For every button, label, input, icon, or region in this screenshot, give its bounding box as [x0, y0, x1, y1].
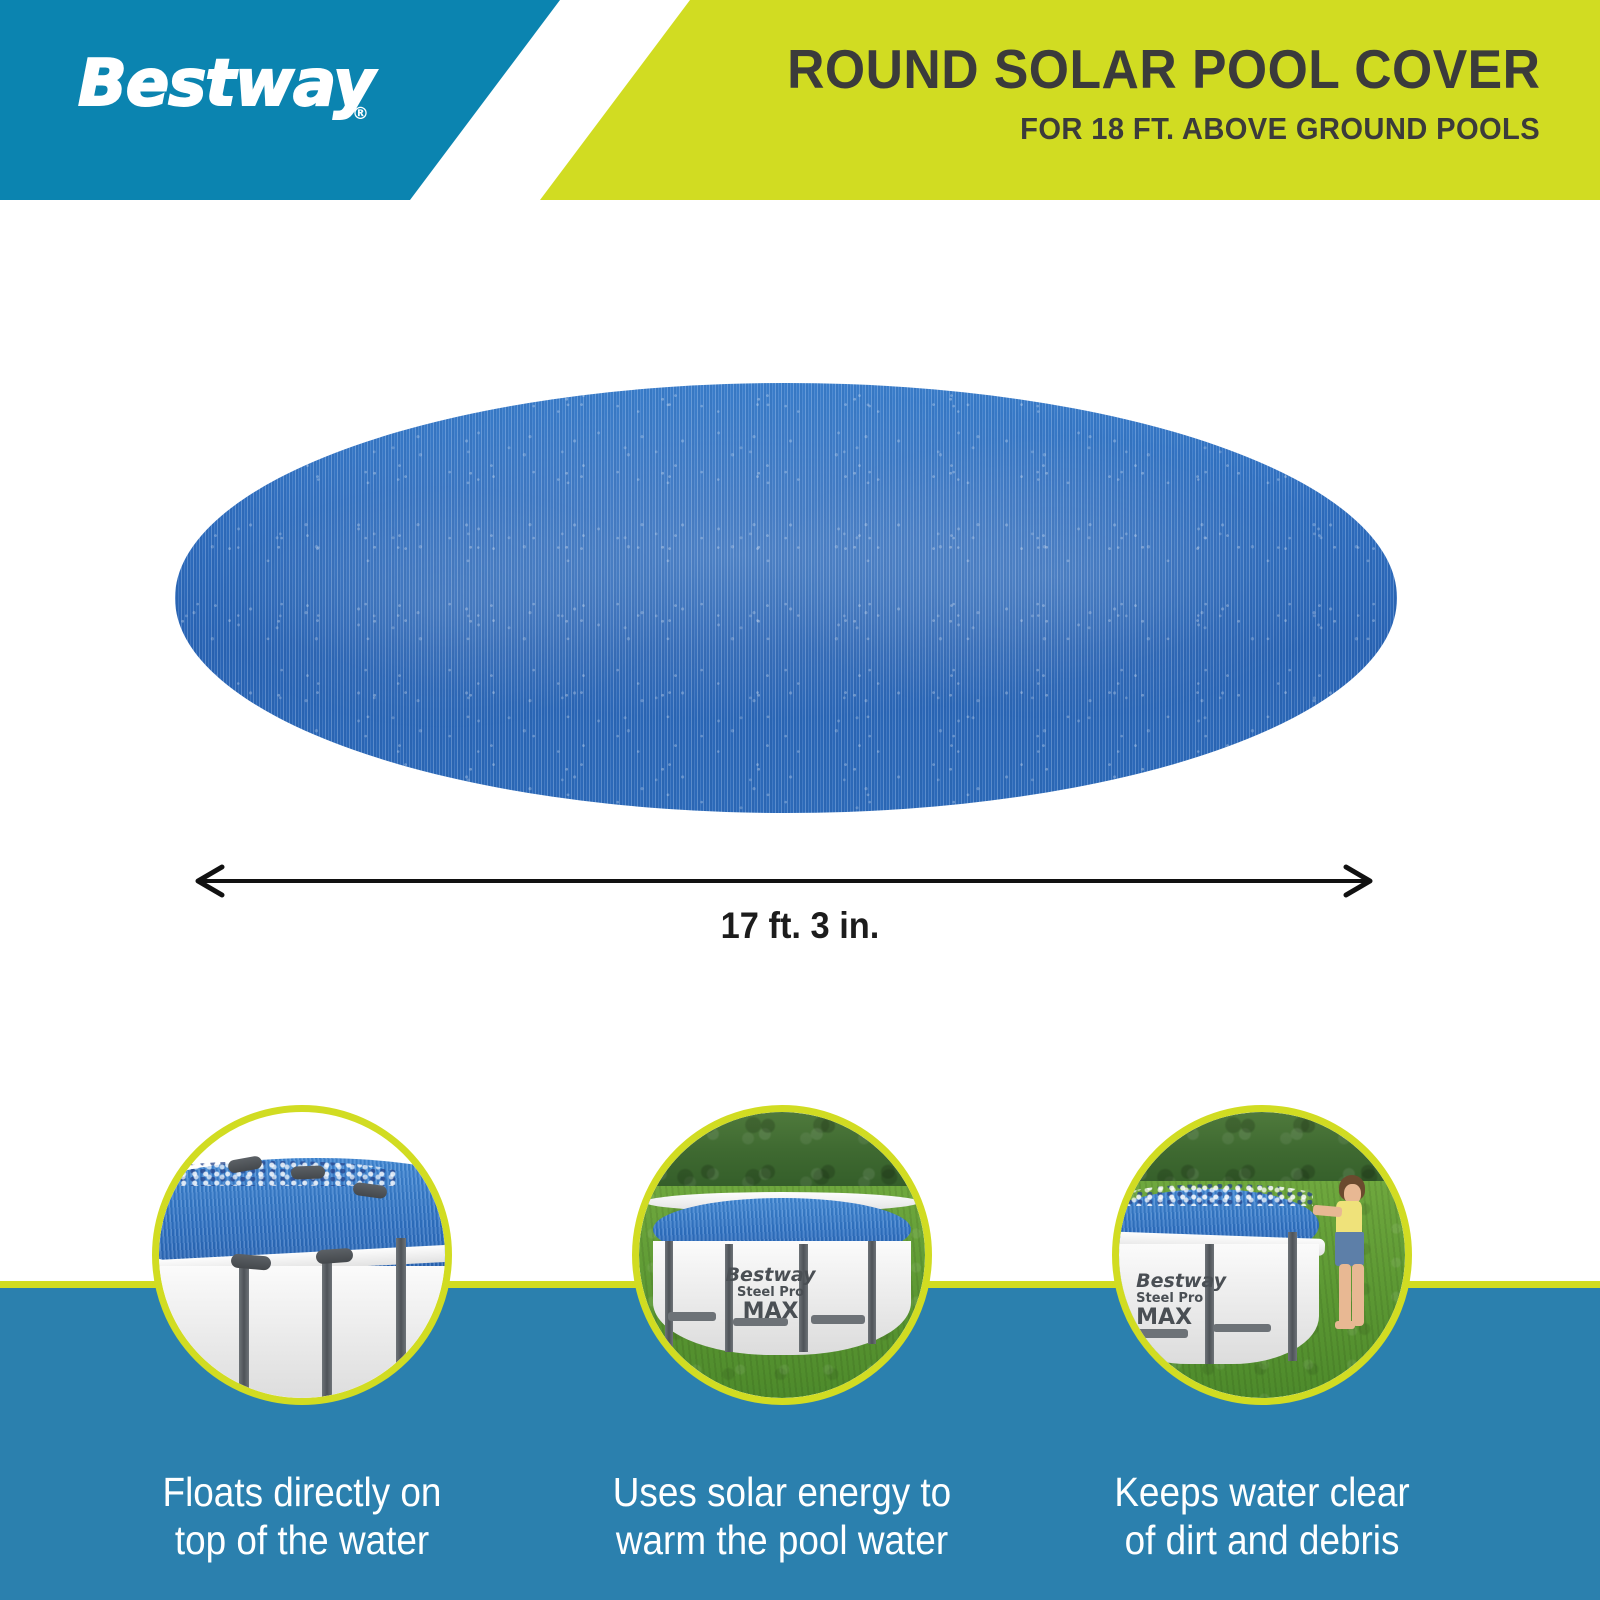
pool-brand-line3: MAX	[1136, 1306, 1233, 1329]
woman-shorts	[1335, 1232, 1364, 1266]
page-subtitle: FOR 18 FT. ABOVE GROUND POOLS	[1020, 113, 1540, 144]
page-title: ROUND SOLAR POOL COVER	[787, 42, 1540, 97]
feature-circle-solar: Bestway Steel Pro MAX	[632, 1105, 932, 1405]
product-image	[175, 383, 1397, 813]
dimension-arrow	[188, 862, 1380, 900]
caption-line-1: Floats directly on	[131, 1468, 473, 1516]
pool-brand-line3: MAX	[713, 1300, 827, 1323]
pool-brand-line1: Bestway	[713, 1266, 827, 1286]
woman-foot	[1335, 1321, 1355, 1330]
cover-bubble-edge	[1125, 1184, 1314, 1207]
feature-ring-border: Bestway Steel Pro MAX	[1112, 1105, 1412, 1405]
feature-caption-solar: Uses solar energy to warm the pool water	[611, 1468, 953, 1565]
pool-post-1	[239, 1266, 249, 1398]
pool-brand-line2: Steel Pro	[713, 1286, 827, 1300]
pool-brand-label: Bestway Steel Pro MAX	[713, 1266, 827, 1323]
feature-circle-clean: Bestway Steel Pro MAX	[1112, 1105, 1412, 1405]
woman-leg-right	[1352, 1264, 1363, 1327]
feature-circle-floats	[152, 1105, 452, 1405]
pool-strap-1	[668, 1312, 717, 1321]
feature-photo-floats	[159, 1112, 445, 1398]
pool-post-4	[868, 1241, 877, 1344]
feature-photo-solar: Bestway Steel Pro MAX	[639, 1112, 925, 1398]
product-infographic: Bestway ® ROUND SOLAR POOL COVER FOR 18 …	[0, 0, 1600, 1600]
pool-strap-1	[1136, 1329, 1187, 1338]
caption-line-1: Uses solar energy to	[611, 1468, 953, 1516]
pool-brand-line1: Bestway	[1136, 1272, 1233, 1292]
pool-brand-line2: Steel Pro	[1136, 1292, 1233, 1306]
registered-trademark-icon: ®	[352, 104, 369, 124]
caption-line-2: top of the water	[131, 1516, 473, 1564]
feature-caption-clean: Keeps water clear of dirt and debris	[1091, 1468, 1433, 1565]
solar-cover-ellipse	[175, 383, 1397, 813]
header-banner: Bestway ® ROUND SOLAR POOL COVER FOR 18 …	[0, 0, 1600, 200]
pool-post-3	[396, 1238, 406, 1398]
rail-clamp-2	[290, 1166, 325, 1180]
woman-leg-left	[1339, 1264, 1350, 1327]
caption-line-1: Keeps water clear	[1091, 1468, 1433, 1516]
cover-sheen-overlay	[175, 383, 1397, 813]
dimension-label: 17 ft. 3 in.	[56, 905, 1544, 947]
feature-caption-floats: Floats directly on top of the water	[131, 1468, 473, 1565]
feature-ring-border	[152, 1105, 452, 1405]
caption-line-2: of dirt and debris	[1091, 1516, 1433, 1564]
pool-brand-label: Bestway Steel Pro MAX	[1136, 1272, 1233, 1329]
pool-post-2	[322, 1261, 332, 1398]
feature-photo-clean: Bestway Steel Pro MAX	[1119, 1112, 1405, 1398]
caption-line-2: warm the pool water	[611, 1516, 953, 1564]
pool-post-2	[1288, 1232, 1297, 1361]
pool-post-1	[665, 1241, 674, 1347]
feature-ring-border: Bestway Steel Pro MAX	[632, 1105, 932, 1405]
bestway-logo: Bestway	[78, 52, 374, 116]
